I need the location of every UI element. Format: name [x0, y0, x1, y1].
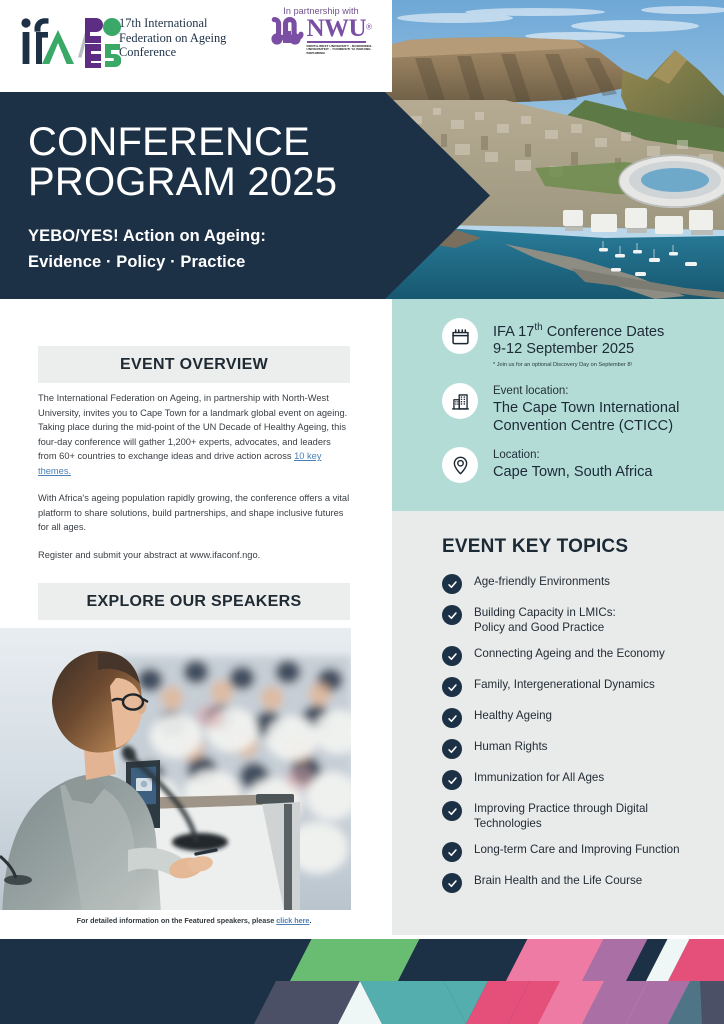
topic-label: Family, Intergenerational Dynamics	[474, 676, 655, 693]
check-icon	[442, 770, 462, 790]
check-icon	[442, 873, 462, 893]
event-key-topics-panel: EVENT KEY TOPICS Age-friendly Environmen…	[392, 511, 724, 935]
calendar-icon	[442, 318, 478, 354]
poster-title-line1: CONFERENCE	[28, 120, 310, 164]
venue-name-line1: The Cape Town International	[493, 400, 679, 418]
conference-name-line1: 17th International	[119, 16, 249, 31]
topic-label: Long-term Care and Improving Function	[474, 841, 680, 858]
overview-paragraph-2: With Africa's ageing population rapidly …	[38, 491, 350, 535]
topic-item: Family, Intergenerational Dynamics	[442, 676, 714, 697]
topic-label-line1: Age-friendly Environments	[474, 575, 610, 590]
speaker-at-podium-photo	[0, 628, 351, 910]
topic-item: Immunization for All Ages	[442, 769, 714, 790]
overview-paragraph-3: Register and submit your abstract at www…	[38, 548, 350, 563]
topic-label-line1: Immunization for All Ages	[474, 771, 604, 786]
check-icon	[442, 646, 462, 666]
building-icon	[442, 383, 478, 419]
check-icon	[442, 842, 462, 862]
conference-program-poster: / 17th International Federation on Agein…	[0, 0, 724, 1024]
ifa-logo	[14, 14, 76, 70]
poster-title-line2: PROGRAM 2025	[28, 160, 337, 204]
check-icon	[442, 708, 462, 728]
topic-label: Healthy Ageing	[474, 707, 552, 724]
conference-name: 17th International Federation on Ageing …	[119, 16, 249, 60]
conference-name-line3: Conference	[119, 45, 249, 60]
nwu-subtitle: NORTH-WEST UNIVERSITY · NOORDWES-UNIVERS…	[307, 45, 373, 57]
year-2025-mark	[85, 16, 121, 68]
check-icon	[442, 677, 462, 697]
topic-label-line2: Technologies	[474, 817, 648, 832]
nwu-logo-mark	[270, 17, 304, 47]
map-pin-icon	[442, 447, 478, 483]
event-overview-heading: EVENT OVERVIEW	[38, 346, 350, 383]
event-location-label: Event location:	[493, 384, 679, 399]
conference-dates-value: 9-12 September 2025	[493, 341, 664, 359]
topic-label: Connecting Ageing and the Economy	[474, 645, 665, 662]
topic-label: Immunization for All Ages	[474, 769, 604, 786]
venue-name-line2: Convention Centre (CTICC)	[493, 418, 679, 436]
header-logo-bar: / 17th International Federation on Agein…	[0, 0, 392, 92]
poster-subtitle-line2: Evidence · Policy · Practice	[28, 252, 245, 273]
topic-label-line1: Improving Practice through Digital	[474, 802, 648, 817]
topic-item: Age-friendly Environments	[442, 573, 714, 594]
topic-item: Long-term Care and Improving Function	[442, 841, 714, 862]
topic-item: Human Rights	[442, 738, 714, 759]
conference-dates-title: IFA 17th Conference Dates	[493, 319, 664, 341]
city-location-label: Location:	[493, 448, 653, 463]
topic-label: Age-friendly Environments	[474, 573, 610, 590]
topic-label-line2: Policy and Good Practice	[474, 621, 616, 636]
featured-speakers-link[interactable]: click here	[276, 916, 309, 925]
topic-item: Connecting Ageing and the Economy	[442, 645, 714, 666]
event-venue-row: Event location: The Cape Town Internatio…	[442, 383, 679, 435]
speakers-caption: For detailed information on the Featured…	[38, 916, 350, 925]
check-icon	[442, 574, 462, 594]
topic-item: Building Capacity in LMICs:Policy and Go…	[442, 604, 714, 635]
topic-label: Human Rights	[474, 738, 547, 755]
pattern-top-gap	[0, 935, 724, 939]
topic-label-line1: Family, Intergenerational Dynamics	[474, 678, 655, 693]
topic-label-line1: Human Rights	[474, 740, 547, 755]
event-city-row: Location: Cape Town, South Africa	[442, 447, 653, 483]
topic-label-line1: Brain Health and the Life Course	[474, 874, 642, 889]
topic-label: Building Capacity in LMICs:Policy and Go…	[474, 604, 616, 635]
partner-block: In partnership with NWU® NORTH-WEST UNIV…	[262, 6, 380, 78]
topic-label-line1: Healthy Ageing	[474, 709, 552, 724]
overview-paragraph-1: The International Federation on Ageing, …	[38, 391, 350, 478]
topic-label-line1: Long-term Care and Improving Function	[474, 843, 680, 858]
topic-label: Brain Health and the Life Course	[474, 872, 642, 889]
topic-label-line1: Connecting Ageing and the Economy	[474, 647, 665, 662]
topic-item: Brain Health and the Life Course	[442, 872, 714, 893]
city-location-value: Cape Town, South Africa	[493, 464, 653, 482]
topic-label: Improving Practice through DigitalTechno…	[474, 800, 648, 831]
topic-label-line1: Building Capacity in LMICs:	[474, 606, 616, 621]
conference-name-line2: Federation on Ageing	[119, 31, 249, 46]
event-info-panel: IFA 17th Conference Dates 9-12 September…	[392, 299, 724, 511]
explore-speakers-heading: EXPLORE OUR SPEAKERS	[38, 583, 350, 620]
event-overview-body: The International Federation on Ageing, …	[38, 391, 350, 562]
nwu-wordmark: NWU	[307, 17, 367, 43]
check-icon	[442, 605, 462, 625]
topic-item: Healthy Ageing	[442, 707, 714, 728]
event-dates-row: IFA 17th Conference Dates 9-12 September…	[442, 318, 664, 369]
discovery-day-note: * Join us for an optional Discovery Day …	[493, 361, 664, 369]
check-icon	[442, 739, 462, 759]
geometric-triangle-pattern	[0, 938, 724, 1024]
topic-item: Improving Practice through DigitalTechno…	[442, 800, 714, 831]
topics-heading: EVENT KEY TOPICS	[442, 536, 628, 558]
topics-list: Age-friendly EnvironmentsBuilding Capaci…	[442, 573, 714, 903]
registered-trademark-icon: ®	[366, 23, 372, 32]
check-icon	[442, 801, 462, 821]
poster-subtitle-line1: YEBO/YES! Action on Ageing:	[28, 226, 266, 247]
